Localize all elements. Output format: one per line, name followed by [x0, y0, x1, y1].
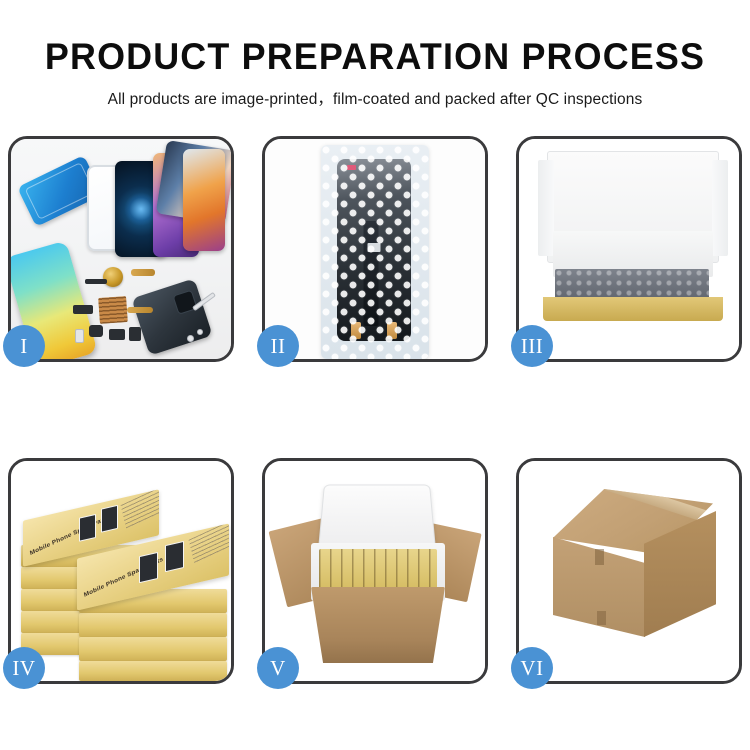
step-badge-3: III — [511, 325, 553, 367]
flex-cable-part — [131, 269, 155, 276]
retail-box — [79, 613, 227, 637]
step-badge-6: VI — [511, 647, 553, 689]
header: PRODUCT PREPARATION PROCESS All products… — [0, 0, 750, 109]
small-part-strip — [85, 279, 107, 284]
step-4-photo: Mobile Phone Spare Parts Mobile Phone Sp… — [11, 461, 231, 681]
process-step-card-1: I — [8, 136, 234, 362]
process-step-card-6: VI — [516, 458, 742, 684]
retail-box-stack: Mobile Phone Spare Parts Mobile Phone Sp… — [17, 477, 231, 673]
carton-seam — [597, 611, 606, 625]
stacked-retail-boxes-inside — [319, 549, 437, 593]
connector-part — [73, 305, 93, 314]
battery-connector-part — [129, 327, 141, 341]
packing-tape — [600, 477, 716, 525]
step-badge-1: I — [3, 325, 45, 367]
box-screen-image — [139, 552, 158, 583]
step-2-photo — [265, 139, 485, 359]
bubble-wrap-bag — [321, 145, 429, 359]
phone-back-housing — [131, 278, 212, 355]
sim-tray-part — [75, 329, 84, 343]
flex-cable-part — [127, 307, 153, 313]
process-step-card-2: II — [262, 136, 488, 362]
page-title: PRODUCT PREPARATION PROCESS — [11, 36, 739, 78]
step-badge-2: II — [257, 325, 299, 367]
camera-module-part — [89, 325, 103, 337]
speaker-coil-part — [103, 267, 123, 287]
box-screen-image — [165, 541, 184, 572]
carton-body — [311, 587, 445, 663]
bubble-wrap-texture — [321, 145, 429, 359]
process-step-card-3: III — [516, 136, 742, 362]
step-badge-5: V — [257, 647, 299, 689]
box-spec-text-lines — [189, 523, 229, 563]
carton-seam — [595, 549, 604, 565]
process-step-card-4: Mobile Phone Spare Parts Mobile Phone Sp… — [8, 458, 234, 684]
sealed-shipping-carton — [535, 489, 725, 645]
retail-box — [79, 661, 227, 681]
step-5-photo — [265, 461, 485, 681]
box-screen-image — [101, 505, 118, 533]
box-screen-image — [79, 514, 96, 542]
screw-part — [197, 329, 203, 335]
product-preparation-infographic: PRODUCT PREPARATION PROCESS All products… — [0, 0, 750, 750]
step-6-photo — [519, 461, 739, 681]
step-badge-4: IV — [3, 647, 45, 689]
vibrator-part — [109, 329, 125, 340]
process-step-grid: I II — [8, 136, 742, 686]
step-3-photo — [519, 139, 739, 359]
copper-mesh-part — [98, 296, 128, 324]
box-spec-text-lines — [121, 489, 159, 529]
page-subtitle: All products are image-printed，film-coat… — [0, 87, 750, 109]
orange-phone-screen — [183, 149, 225, 251]
retail-box — [79, 637, 227, 661]
step-1-photo — [11, 139, 231, 359]
process-step-card-5: V — [262, 458, 488, 684]
kraft-box-front-panel — [543, 297, 723, 321]
screw-part — [187, 335, 194, 342]
